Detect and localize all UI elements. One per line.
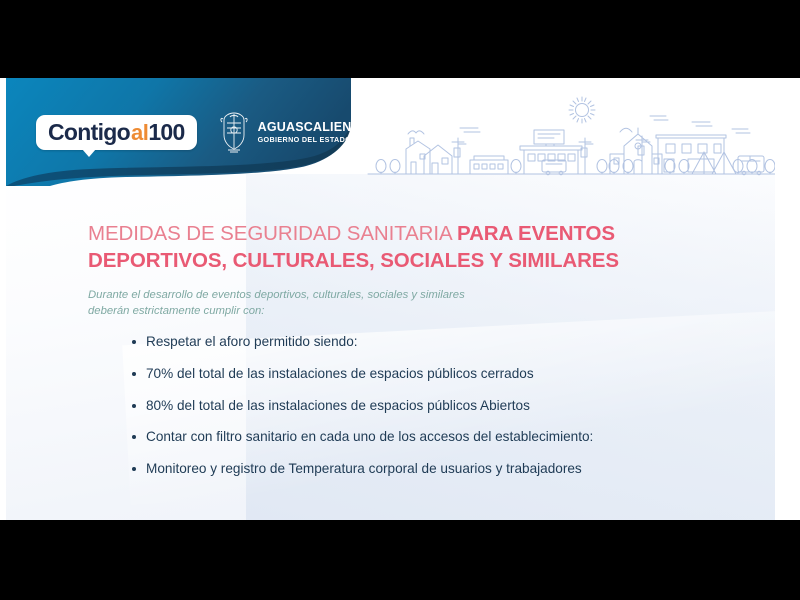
bullet-dot-icon (132, 435, 136, 439)
government-title: AGUASCALIENTES (258, 121, 377, 134)
city-skyline-illustration-right (606, 94, 775, 182)
screenshot-stage: Contigo al 100 (0, 0, 800, 600)
government-text: AGUASCALIENTES GOBIERNO DEL ESTADO (258, 121, 377, 143)
bullet-dot-icon (132, 467, 136, 471)
street-light-icon (452, 138, 466, 174)
street-light-icon (579, 138, 593, 174)
house-icon (406, 138, 430, 174)
cloud-icon (460, 128, 480, 132)
logo-word-al: al (131, 120, 148, 146)
list-item: 80% del total de las instalaciones de es… (132, 397, 728, 415)
bullet-dot-icon (132, 404, 136, 408)
slide-title: MEDIDAS DE SEGURIDAD SANITARIA PARA EVEN… (88, 221, 728, 274)
tree-icon (609, 160, 619, 175)
tree-icon (376, 160, 386, 175)
logo-word-100: 100 (148, 119, 184, 146)
coat-of-arms-icon (219, 111, 249, 153)
list-item: Monitoreo y registro de Temperatura corp… (132, 460, 728, 478)
slide-subtitle-line-2: deberán estrictamente cumplir con: (88, 305, 264, 317)
slide-subtitle-line-1: Durante el desarrollo de eventos deporti… (88, 289, 465, 301)
slide-subtitle: Durante el desarrollo de eventos deporti… (88, 287, 558, 319)
government-lockup: AGUASCALIENTES GOBIERNO DEL ESTADO (219, 111, 377, 153)
sun-icon (569, 97, 595, 123)
list-item: 70% del total de las instalaciones de es… (132, 365, 728, 383)
office-building-icon (656, 135, 726, 174)
government-subtitle: GOBIERNO DEL ESTADO (258, 136, 377, 143)
bus-icon (542, 160, 566, 175)
header-banner: Contigo al 100 (6, 78, 351, 186)
tree-icon (747, 160, 757, 175)
list-item-label: Monitoreo y registro de Temperatura corp… (146, 461, 582, 476)
bullet-dot-icon (132, 372, 136, 376)
header-brand-row: Contigo al 100 (6, 78, 351, 186)
bullet-dot-icon (132, 340, 136, 344)
list-item-label: Respetar el aforo permitido siendo: (146, 334, 358, 349)
tree-icon (390, 160, 400, 175)
cloud-icon (692, 122, 712, 126)
measures-list: Respetar el aforo permitido siendo: 70% … (88, 333, 728, 477)
tree-icon (623, 160, 633, 175)
logo-word-contigo: Contigo (48, 119, 130, 146)
skyline-right-svg (606, 94, 775, 182)
slide-body: MEDIDAS DE SEGURIDAD SANITARIA PARA EVEN… (88, 221, 728, 478)
house-icon (424, 145, 452, 174)
list-item-label: 80% del total de las instalaciones de es… (146, 398, 530, 413)
list-item: Respetar el aforo permitido siendo: (132, 333, 728, 351)
list-item: Contar con filtro sanitario en cada uno … (132, 428, 728, 446)
slide-inner: Contigo al 100 (6, 78, 775, 520)
tree-icon (733, 160, 743, 175)
shop-icon (470, 156, 508, 174)
slide-title-regular: MEDIDAS DE SEGURIDAD SANITARIA (88, 222, 457, 245)
list-item-label: Contar con filtro sanitario en cada uno … (146, 429, 593, 444)
street-light-icon (636, 136, 650, 174)
storefront-icon (520, 130, 582, 174)
bird-icon (408, 131, 424, 134)
list-item-label: 70% del total de las instalaciones de es… (146, 366, 534, 381)
slide-canvas: Contigo al 100 (0, 78, 800, 520)
contigo-al-100-logo: Contigo al 100 (36, 115, 197, 150)
tree-icon (511, 160, 521, 175)
